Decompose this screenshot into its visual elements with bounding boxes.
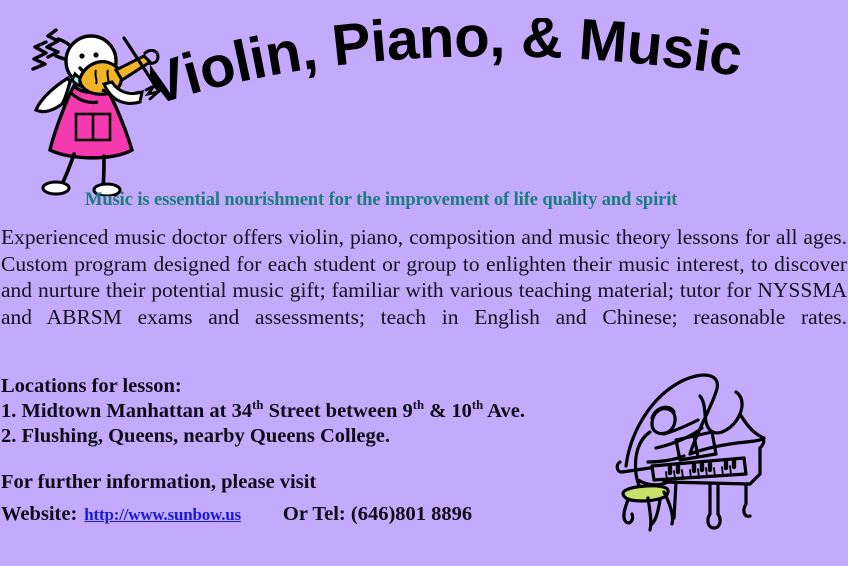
location-1-ordinal-1: th [252, 398, 263, 412]
location-1-ordinal-2: th [413, 398, 424, 412]
phone-number: Or Tel: (646)801 8896 [283, 498, 472, 530]
tagline: Music is essential nourishment for the i… [85, 190, 677, 211]
website-label: Website: [1, 498, 77, 530]
page-title-text: Violin, Piano, & Music Theory Lessons [150, 18, 762, 118]
location-1-mid-1: Street between 9 [263, 400, 412, 422]
location-1-suffix: Ave. [483, 400, 525, 422]
contact-block: For further information, please visit We… [1, 466, 472, 531]
location-1-mid-2: & 10 [424, 400, 472, 422]
locations-heading: Locations for lesson: [1, 374, 525, 399]
location-1-prefix: 1. Midtown Manhattan at 34 [1, 400, 252, 422]
music-lessons-flyer: Violin, Piano, & Music Theory Lessons Mu… [0, 0, 848, 566]
location-1-ordinal-3: th [472, 398, 483, 412]
page-title: Violin, Piano, & Music Theory Lessons [150, 18, 770, 138]
contact-details-row: Website: http://www.sunbow.us Or Tel: (6… [1, 498, 472, 531]
contact-call-to-action: For further information, please visit [1, 466, 472, 498]
location-item-2: 2. Flushing, Queens, nearby Queens Colle… [1, 424, 525, 449]
location-item-1: 1. Midtown Manhattan at 34th Street betw… [1, 399, 525, 424]
piano-player-illustration [604, 362, 844, 558]
locations-block: Locations for lesson: 1. Midtown Manhatt… [1, 374, 525, 449]
description-paragraph: Experienced music doctor offers violin, … [1, 224, 847, 357]
girl-playing-violin-illustration [8, 14, 178, 196]
website-link[interactable]: http://www.sunbow.us [84, 499, 241, 531]
